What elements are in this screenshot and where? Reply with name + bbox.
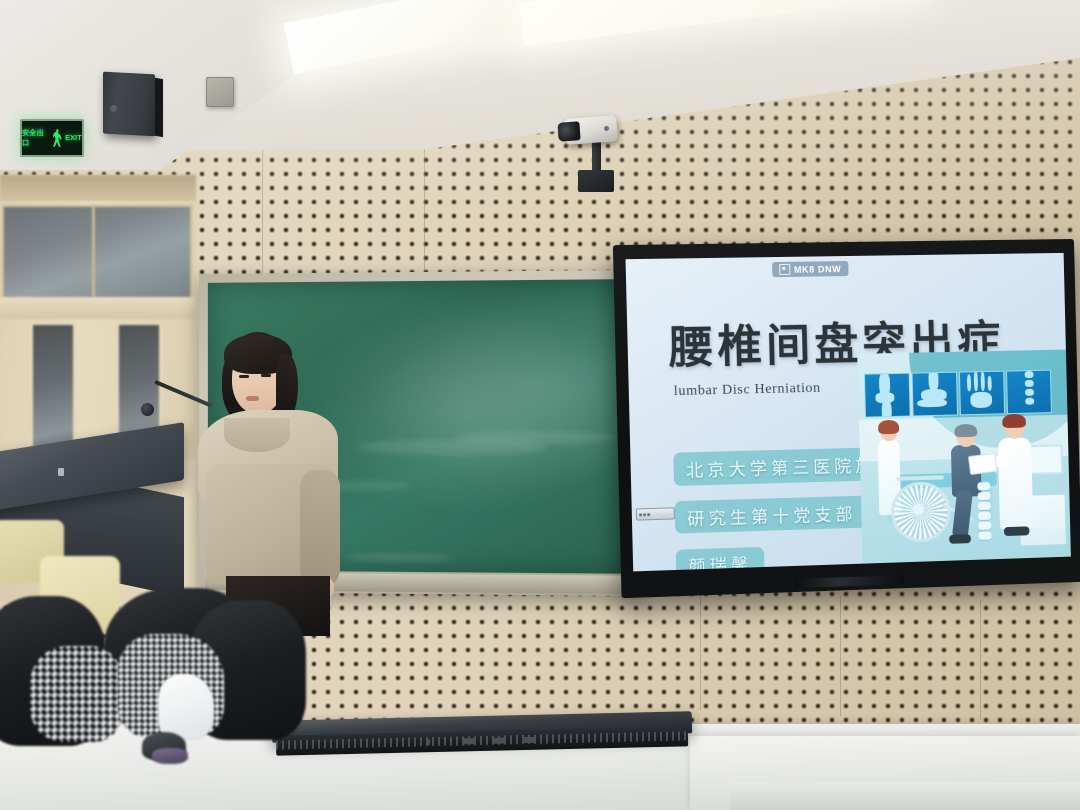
exit-sign: 安全出口 EXIT: [20, 119, 84, 157]
smartboard-screen[interactable]: MK8 DNW 腰椎间盘突出症 lumbar Disc Herniation 北…: [626, 253, 1071, 572]
exit-sign-label-cn: 安全出口: [22, 128, 49, 148]
toolbar-dot-icon[interactable]: [639, 513, 642, 516]
microphone-icon: [141, 403, 154, 416]
exit-sign-label-en: EXIT: [65, 135, 82, 142]
patient-shoe: [949, 534, 971, 544]
presenter-shawl-fold: [224, 418, 290, 452]
toolbar-dot-icon[interactable]: [647, 513, 650, 516]
side-desk-edge: [730, 782, 1080, 810]
brand-badge-label: MK8 DNW: [794, 264, 842, 275]
podium-indicator-icon: [58, 468, 64, 476]
medical-clinic-illustration: [857, 350, 1070, 564]
smartboard[interactable]: MK8 DNW 腰椎间盘突出症 lumbar Disc Herniation 北…: [613, 239, 1080, 598]
camera-lens-icon: [557, 121, 580, 141]
wall-speaker: [103, 72, 155, 137]
transom-mullion: [92, 205, 95, 297]
toolbar-dot-icon[interactable]: [643, 513, 646, 516]
doctor-shoe: [1004, 526, 1030, 536]
nurse-hair: [878, 420, 899, 434]
slide-pill-branch: 研究生第十党支部: [674, 496, 868, 534]
spine-model: [977, 482, 991, 542]
patient-hair: [954, 424, 977, 437]
xray-ankle-panel: [912, 372, 958, 417]
xray-spine-panel: [1006, 370, 1052, 415]
speaker-tweeter-icon: [110, 105, 117, 112]
presenter-eye: [261, 374, 271, 377]
slide-pill-presenter-name: 颜瑞馨: [676, 547, 765, 572]
wall-control-plate[interactable]: [206, 77, 234, 107]
presenter-sleeve: [300, 470, 340, 586]
laptop-hdmi-port[interactable]: [462, 738, 476, 744]
chalk-smear: [455, 431, 617, 444]
smartboard-control-strip[interactable]: [794, 575, 904, 588]
floating-annotation-toolbar[interactable]: [636, 507, 675, 520]
laptop-usb-port[interactable]: [524, 737, 535, 743]
door-rail: [0, 297, 196, 319]
doctor-hair: [1002, 414, 1026, 428]
slide-subtitle: lumbar Disc Herniation: [674, 381, 821, 400]
smartboard-brand-badge: MK8 DNW: [772, 261, 849, 277]
transom-window: [2, 205, 192, 301]
running-person-icon: [51, 128, 64, 148]
houndstooth-scarf: [30, 646, 122, 742]
presenter-eye: [239, 375, 249, 378]
lecture-hall-photo: 安全出口 EXIT MK8 DNW 腰椎间盘突出症 lumbar Disc He…: [0, 0, 1080, 810]
accessory-detail: [152, 748, 188, 764]
chalk-smear: [345, 552, 455, 562]
camera-indicator-icon: [604, 126, 609, 131]
camera-mount-base: [578, 170, 614, 192]
door-lintel: [0, 175, 196, 201]
laptop-usb-port[interactable]: [494, 737, 505, 743]
laptop-port[interactable]: [426, 739, 430, 745]
doctor-figure: [998, 437, 1033, 529]
clipboard-icon: [968, 453, 998, 475]
xray-knee-panel: [864, 373, 911, 418]
xray-hand-panel: [959, 371, 1005, 416]
white-cloth: [158, 674, 214, 740]
screen-share-icon: [779, 264, 790, 275]
presenter-mouth: [246, 396, 259, 401]
presenter: [196, 332, 344, 632]
wall-seam: [980, 600, 981, 720]
wall-picture-frame: [1029, 444, 1063, 475]
laptop-vents: [276, 731, 688, 749]
wall-seam: [700, 590, 701, 710]
wall-seam: [840, 596, 841, 716]
